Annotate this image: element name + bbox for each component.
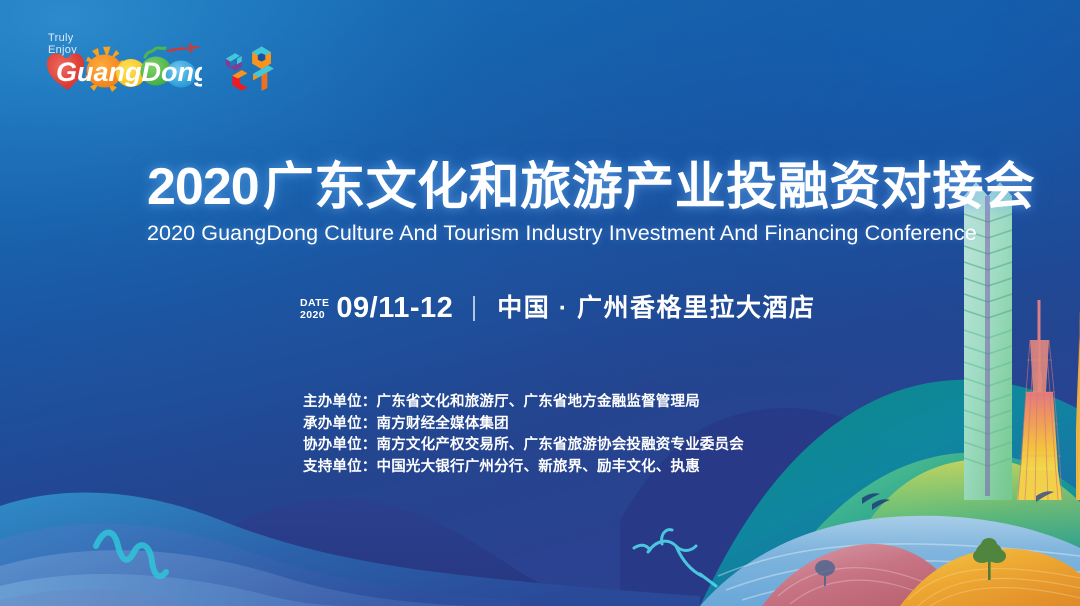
page-title-cn: 2020广东文化和旅游产业投融资对接会	[147, 156, 1035, 218]
organizer-value: 广东省文化和旅游厅、广东省地方金融监督管理局	[377, 394, 700, 410]
title-year: 2020	[147, 158, 259, 216]
organizer-role: 承办单位：	[303, 416, 377, 432]
organizer-role: 主办单位：	[303, 394, 377, 410]
date-venue-separator	[473, 296, 475, 321]
page-title-en: 2020 GuangDong Culture And Tourism Indus…	[147, 219, 1035, 247]
organizer-row: 协办单位：南方文化产权交易所、广东省旅游协会投融资专业委员会	[303, 435, 744, 457]
organizer-role: 协办单位：	[303, 437, 377, 453]
title-cn-text: 广东文化和旅游产业投融资对接会	[263, 158, 1036, 215]
guangdong-wordmark: GuangDong	[56, 57, 202, 87]
date-value: 09/11-12	[336, 292, 453, 324]
organizer-list: 主办单位：广东省文化和旅游厅、广东省地方金融监督管理局 承办单位：南方财经全媒体…	[303, 392, 744, 478]
organizer-role: 支持单位：	[303, 459, 377, 475]
organizer-row: 主办单位：广东省文化和旅游厅、广东省地方金融监督管理局	[303, 392, 744, 414]
conference-poster: Truly Enjoy	[0, 0, 1080, 606]
guangdong-tourism-logo[interactable]: GuangDong	[42, 34, 202, 106]
organizer-value: 南方财经全媒体集团	[377, 416, 509, 432]
title-block: 2020广东文化和旅游产业投融资对接会 2020 GuangDong Cultu…	[147, 156, 1035, 247]
venue-text: 中国 · 广州香格里拉大酒店	[497, 294, 815, 322]
organizer-row: 承办单位：南方财经全媒体集团	[303, 414, 744, 436]
date-label-line1: DATE	[300, 298, 329, 310]
date-venue-bar: DATE 2020 09/11-12 中国 · 广州香格里拉大酒店	[300, 292, 816, 324]
organizer-row: 支持单位：中国光大银行广州分行、新旅界、励丰文化、执惠	[303, 457, 744, 479]
gdct-isometric-logo[interactable]	[220, 38, 288, 104]
date-label-line2: 2020	[300, 310, 329, 322]
organizer-value: 中国光大银行广州分行、新旅界、励丰文化、执惠	[377, 459, 700, 475]
date-label: DATE 2020	[300, 295, 329, 321]
organizer-value: 南方文化产权交易所、广东省旅游协会投融资专业委员会	[377, 437, 745, 453]
